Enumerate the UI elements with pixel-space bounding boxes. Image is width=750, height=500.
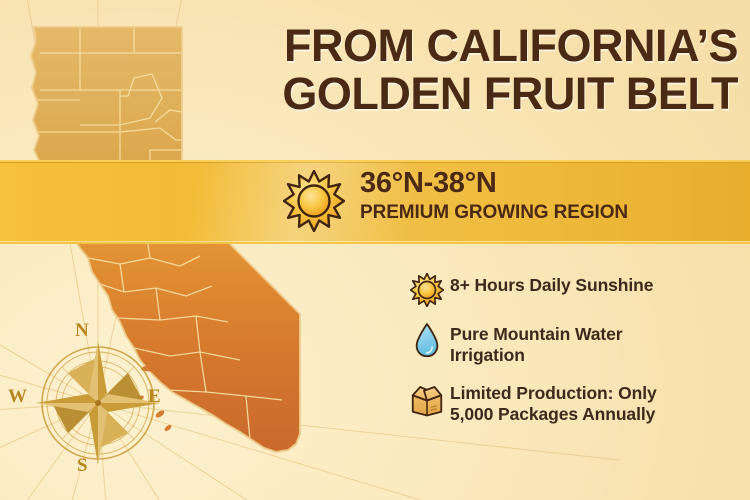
feature-line-1: 8+ Hours Daily Sunshine — [450, 275, 653, 296]
list-item: Pure Mountain Water Irrigation — [404, 321, 734, 366]
headline-line-2: GOLDEN FRUIT BELT — [236, 70, 738, 118]
headline-line-1: FROM CALIFORNIA’S — [284, 20, 738, 71]
compass-label-east: E — [148, 386, 161, 408]
water-drop-icon — [404, 321, 450, 358]
compass-label-west: W — [8, 386, 27, 408]
sun-icon — [404, 272, 450, 307]
banner-text-group: 36°N-38°N PREMIUM GROWING REGION — [360, 168, 628, 225]
band-bottom-edge — [0, 242, 750, 244]
sun-icon — [283, 170, 345, 237]
banner-subtitle: PREMIUM GROWING REGION — [360, 201, 628, 225]
page-title: FROM CALIFORNIA’S GOLDEN FRUIT BELT — [236, 22, 738, 118]
infographic-canvas: FROM CALIFORNIA’S GOLDEN FRUIT BELT 36°N… — [0, 0, 750, 500]
list-item-label: 8+ Hours Daily Sunshine — [450, 272, 653, 296]
list-item: 8+ Hours Daily Sunshine — [404, 272, 734, 307]
compass-label-north: N — [75, 320, 89, 342]
feature-line-1: Pure Mountain Water — [450, 324, 622, 345]
latitude-value: 36°N-38°N — [360, 168, 628, 198]
feature-list: 8+ Hours Daily Sunshine — [404, 272, 734, 439]
feature-line-2: Irrigation — [450, 345, 622, 366]
package-box-icon — [404, 380, 450, 417]
list-item: Limited Production: Only 5,000 Packages … — [404, 380, 734, 425]
feature-line-1: Limited Production: Only — [450, 383, 657, 404]
list-item-label: Limited Production: Only 5,000 Packages … — [450, 380, 657, 425]
feature-line-2: 5,000 Packages Annually — [450, 404, 657, 425]
list-item-label: Pure Mountain Water Irrigation — [450, 321, 622, 366]
compass-label-south: S — [77, 455, 88, 477]
